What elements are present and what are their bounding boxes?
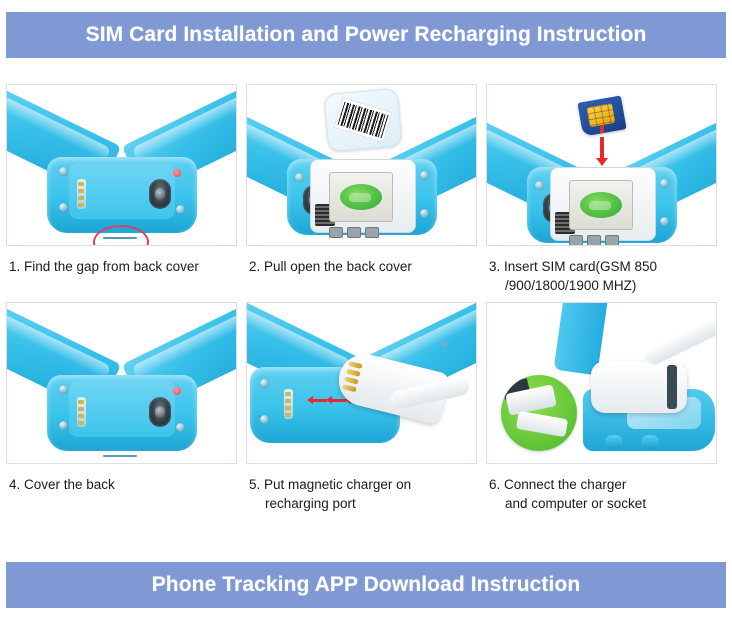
caption-line-1: 5. Put magnetic charger on	[249, 477, 411, 492]
screw-icon	[420, 171, 429, 180]
internal-bay	[550, 167, 656, 241]
screw-icon	[535, 181, 544, 190]
screw-icon	[176, 423, 185, 432]
charging-contacts	[77, 397, 86, 427]
barcode-label	[333, 97, 392, 143]
step-caption-4: 4. Cover the back	[6, 464, 238, 520]
usb-detail-inset	[501, 375, 577, 451]
charging-contacts	[77, 179, 86, 209]
screw-icon	[660, 217, 669, 226]
port-row	[569, 235, 619, 246]
speaker-icon	[149, 179, 171, 209]
step-cell-4: 4. Cover the back	[6, 302, 246, 520]
step-caption-2: 2. Pull open the back cover	[246, 246, 478, 302]
step-image-5: ⚭	[246, 302, 477, 464]
charger-cable	[389, 376, 471, 410]
step-cell-2: 2. Pull open the back cover	[246, 84, 486, 302]
band-gloss	[132, 90, 237, 161]
watch-button	[605, 435, 623, 449]
back-cover-seam	[103, 455, 137, 457]
footer-banner: Phone Tracking APP Download Instruction	[6, 562, 726, 608]
open-back-cover-illustration	[247, 85, 476, 245]
green-sticker	[340, 184, 382, 210]
step-caption-6: 6. Connect the charger and computer or s…	[486, 464, 718, 520]
caption-line-1: 4. Cover the back	[9, 477, 115, 492]
band-gloss	[246, 302, 351, 373]
step-cell-3: 3. Insert SIM card(GSM 850 /900/1800/190…	[486, 84, 726, 302]
caption-line-2: /900/1800/1900 MHZ)	[489, 276, 716, 295]
step-cell-1: 1. Find the gap from back cover	[6, 84, 246, 302]
screw-icon	[59, 203, 68, 212]
insert-sim-illustration	[487, 85, 716, 245]
step-image-6	[486, 302, 717, 464]
charger-head	[591, 361, 687, 413]
caption-line-1: 3. Insert SIM card(GSM 850	[489, 259, 657, 274]
insert-arrow-icon	[600, 137, 604, 159]
magnetic-charger-illustration: ⚭	[247, 303, 476, 463]
header-banner: SIM Card Installation and Power Rechargi…	[6, 12, 726, 58]
step-image-2	[246, 84, 477, 246]
footer-title: Phone Tracking APP Download Instruction	[152, 573, 581, 597]
green-sticker	[580, 192, 622, 218]
step-caption-1: 1. Find the gap from back cover	[6, 246, 238, 302]
step-image-1	[6, 84, 237, 246]
step-image-3	[486, 84, 717, 246]
detached-back-cover	[323, 88, 402, 152]
screw-icon	[295, 173, 304, 182]
step-cell-5: ⚭ 5. Put magnetic charger on recharging …	[246, 302, 486, 520]
caption-line-1: 6. Connect the charger	[489, 477, 626, 492]
charger-pins	[342, 361, 363, 393]
step-image-4	[6, 302, 237, 464]
inset-plug-secondary	[516, 411, 568, 437]
screw-icon	[420, 209, 429, 218]
covered-back-illustration	[7, 303, 236, 463]
band-gloss	[132, 308, 237, 379]
caption-line-2: recharging port	[249, 494, 476, 513]
step-caption-5: 5. Put magnetic charger on recharging po…	[246, 464, 478, 520]
band-gloss	[6, 308, 111, 379]
screw-icon	[660, 179, 669, 188]
screw-icon	[260, 379, 269, 388]
band-gloss	[6, 90, 111, 161]
indicator-dot	[173, 387, 181, 395]
watch-button	[641, 435, 659, 449]
screw-icon	[59, 167, 68, 176]
watch-back-cover-illustration	[7, 85, 236, 245]
charger-collar	[667, 365, 677, 409]
sim-tray	[569, 180, 633, 230]
caption-line-1: 1. Find the gap from back cover	[9, 259, 199, 274]
port-row	[329, 227, 379, 238]
screw-icon	[260, 415, 269, 424]
charging-contacts	[284, 389, 293, 419]
speaker-icon	[149, 397, 171, 427]
header-title: SIM Card Installation and Power Rechargi…	[86, 23, 647, 47]
instruction-grid: 1. Find the gap from back cover	[6, 84, 726, 520]
caption-line-2: and computer or socket	[489, 494, 716, 513]
watch-case	[47, 375, 197, 451]
caption-line-1: 2. Pull open the back cover	[249, 259, 412, 274]
connect-charger-illustration	[487, 303, 716, 463]
watch-case	[47, 157, 197, 233]
internal-bay	[310, 159, 416, 233]
sim-tray	[329, 172, 393, 222]
step-caption-3: 3. Insert SIM card(GSM 850 /900/1800/190…	[486, 246, 718, 302]
indicator-dot	[173, 169, 181, 177]
screw-icon	[59, 385, 68, 394]
step-cell-6: 6. Connect the charger and computer or s…	[486, 302, 726, 520]
screw-icon	[59, 421, 68, 430]
charger-cable	[642, 316, 717, 367]
screw-icon	[176, 205, 185, 214]
